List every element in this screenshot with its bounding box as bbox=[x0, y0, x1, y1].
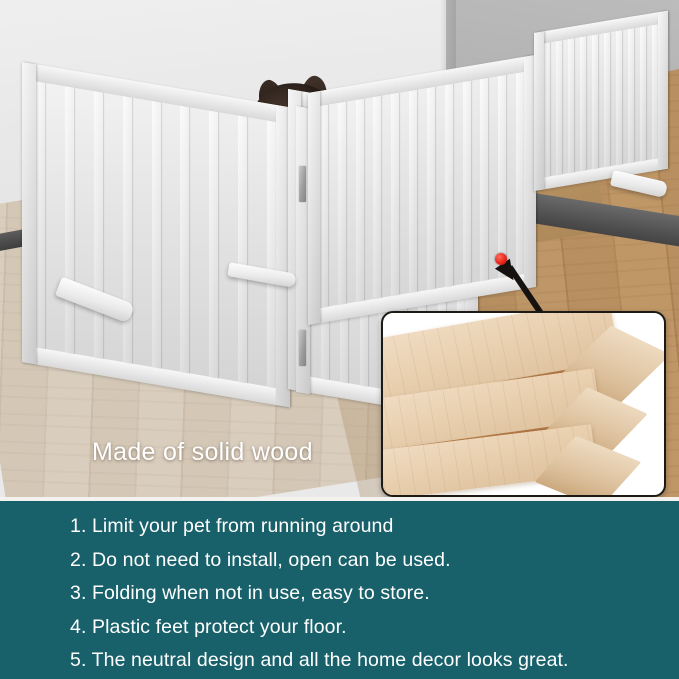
red-dot-marker bbox=[495, 253, 507, 265]
wood-caption: Made of solid wood bbox=[92, 438, 313, 467]
feature-item: 2. Do not need to install, open can be u… bbox=[70, 544, 569, 578]
slat bbox=[427, 87, 435, 290]
gate-panel-4 bbox=[534, 11, 668, 191]
slat bbox=[568, 38, 574, 173]
slat bbox=[628, 28, 634, 163]
hinge-lower-icon bbox=[299, 330, 306, 366]
slat bbox=[604, 32, 610, 167]
slat bbox=[238, 116, 247, 384]
slat bbox=[320, 105, 328, 308]
slat bbox=[445, 84, 453, 287]
panel-post-left bbox=[308, 91, 320, 325]
feature-item: 4. Plastic feet protect your floor. bbox=[70, 611, 569, 645]
slat bbox=[556, 40, 562, 175]
slat bbox=[463, 81, 471, 284]
gate-panel-1 bbox=[22, 62, 290, 407]
panel-post-left bbox=[534, 31, 544, 191]
product-image: Made of solid wood 1. Limit your pet fro… bbox=[0, 0, 679, 679]
feature-item: 3. Folding when not in use, easy to stor… bbox=[70, 577, 569, 611]
slat bbox=[616, 30, 622, 165]
slat bbox=[152, 101, 161, 369]
panel-post-left bbox=[22, 62, 36, 364]
hinge-upper-icon bbox=[299, 166, 306, 202]
panel-slats bbox=[544, 24, 658, 177]
slat bbox=[209, 111, 218, 379]
slat bbox=[123, 96, 132, 364]
product-photo: Made of solid wood bbox=[0, 0, 679, 500]
slat bbox=[498, 75, 506, 278]
panel-slats bbox=[36, 81, 276, 388]
slat bbox=[580, 36, 586, 171]
slat bbox=[640, 26, 646, 161]
slat bbox=[267, 120, 276, 388]
slat bbox=[180, 106, 189, 374]
slat bbox=[373, 96, 381, 299]
slat bbox=[36, 81, 45, 349]
slat bbox=[480, 78, 488, 281]
panel-slats bbox=[320, 72, 524, 308]
slat bbox=[338, 102, 346, 305]
slat bbox=[516, 72, 524, 275]
gate-panel-3 bbox=[308, 55, 536, 325]
wood-boards-inset bbox=[381, 311, 666, 497]
feature-panel: 1. Limit your pet from running around 2.… bbox=[0, 501, 679, 679]
feature-item: 1. Limit your pet from running around bbox=[70, 510, 569, 544]
slat bbox=[409, 90, 417, 293]
slat bbox=[592, 34, 598, 169]
slat bbox=[391, 93, 399, 296]
slat bbox=[356, 99, 364, 302]
feature-list: 1. Limit your pet from running around 2.… bbox=[70, 510, 569, 678]
feature-item: 5. The neutral design and all the home d… bbox=[70, 644, 569, 678]
slat bbox=[94, 91, 103, 359]
slat bbox=[544, 42, 550, 177]
panel-post-right bbox=[658, 11, 668, 171]
slat bbox=[65, 86, 74, 354]
